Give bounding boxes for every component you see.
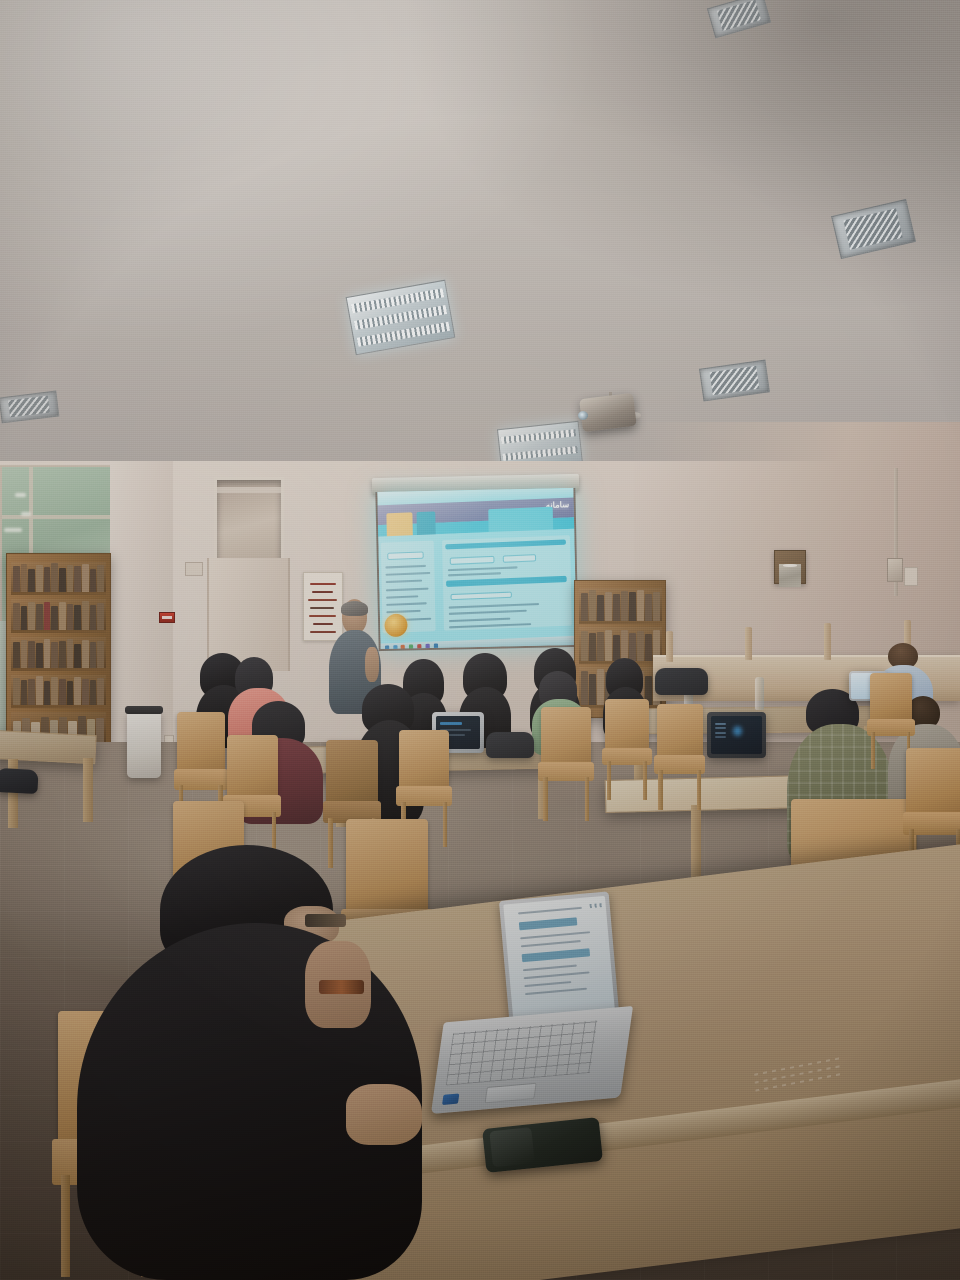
electrical-junction-box xyxy=(887,558,903,582)
carrel-divider xyxy=(824,623,831,660)
eyeglasses xyxy=(305,914,346,927)
laptop-screen xyxy=(711,716,763,754)
laptop-touchpad[interactable] xyxy=(485,1083,537,1104)
bracelet xyxy=(319,980,364,994)
typing-hand xyxy=(346,1084,422,1145)
chair[interactable] xyxy=(605,699,649,796)
bookcase-left xyxy=(6,553,112,753)
library-training-session-photo: Students seated at wooden tables in a un… xyxy=(0,0,960,1280)
waste-bin xyxy=(127,712,162,779)
laptop-screen xyxy=(503,896,615,1018)
service-window xyxy=(214,477,284,564)
laptop-foreground[interactable] xyxy=(499,891,620,1022)
projection-screen: سامانه xyxy=(376,488,579,651)
bag-on-carrel xyxy=(655,668,709,695)
bag-on-table-left xyxy=(0,768,39,794)
foreground-woman xyxy=(77,845,423,1280)
framed-picture xyxy=(774,550,807,583)
laptop-base[interactable] xyxy=(431,1006,633,1114)
laptop-right[interactable] xyxy=(707,712,767,758)
wall-sign-plate xyxy=(185,562,203,576)
chair[interactable] xyxy=(541,707,591,817)
fire-alarm-call-point[interactable] xyxy=(159,612,175,623)
bag-on-mid-table xyxy=(486,732,534,758)
table-leg xyxy=(83,758,93,822)
laptop-lid xyxy=(707,712,767,758)
laptop-lid xyxy=(499,891,620,1022)
laptop-keyboard[interactable] xyxy=(446,1020,597,1085)
laptop-sticker xyxy=(441,1094,458,1106)
chair[interactable] xyxy=(657,704,703,806)
projector xyxy=(579,392,636,432)
carrel-divider xyxy=(666,631,673,662)
wall-box-right xyxy=(904,567,918,586)
carrel-divider xyxy=(745,627,752,660)
projector-lens xyxy=(578,411,588,420)
water-bottle xyxy=(755,677,765,710)
